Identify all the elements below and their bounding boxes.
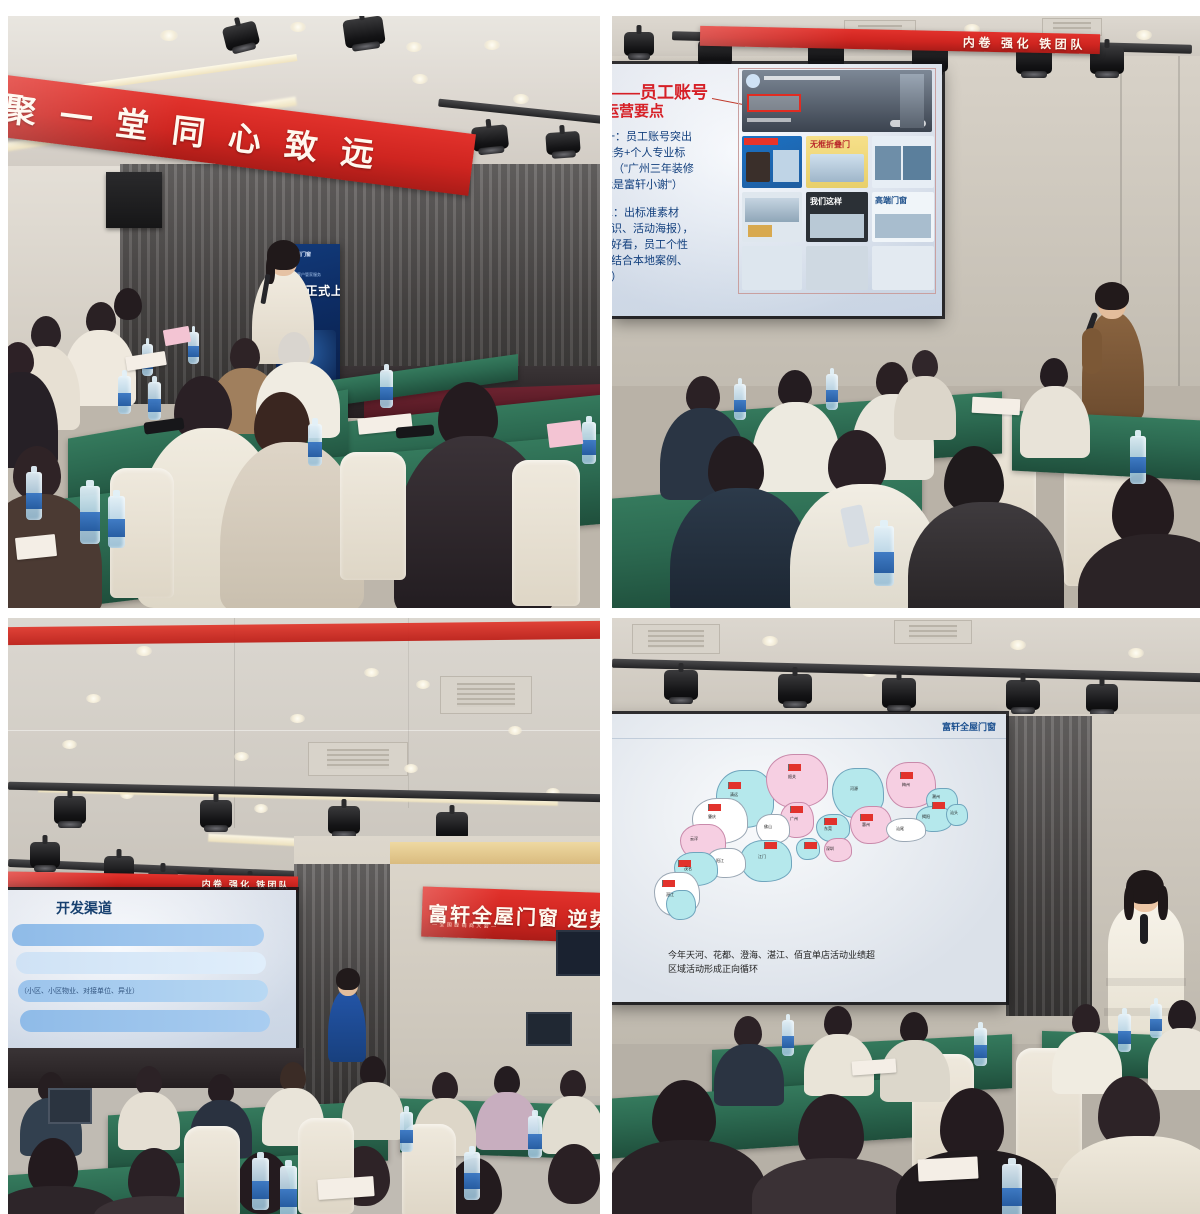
- bottle-label: [26, 493, 42, 509]
- bottle-label: [400, 1130, 413, 1144]
- water-bottle: [1150, 1004, 1162, 1038]
- water-bottle: [26, 472, 42, 520]
- region-label: 梅州: [902, 782, 910, 788]
- chair: [184, 1126, 240, 1214]
- water-bottle: [80, 486, 100, 544]
- projection-screen[interactable]: 富轩全屋门窗: [612, 714, 1006, 1002]
- ceiling-downlight: [234, 752, 249, 761]
- bottle-label: [464, 1173, 480, 1189]
- water-bottle: [1118, 1014, 1131, 1052]
- store-flag-marker: [860, 814, 873, 821]
- ceiling-downlight: [290, 22, 306, 32]
- region-label: 深圳: [826, 846, 834, 852]
- ac-vent: [308, 742, 408, 776]
- panel-top-right[interactable]: 内卷 强化 铁团队 ——员工账号 运营要点 一：员工账号突出 服务+个人专业标 …: [612, 16, 1200, 608]
- attendee-body: [1020, 386, 1090, 458]
- ceiling-downlight: [160, 30, 178, 41]
- region-label: 清远: [730, 792, 738, 798]
- slide-title: 开发渠道: [56, 898, 112, 918]
- store-flag-marker: [708, 804, 721, 811]
- presenter-hair-side: [1124, 886, 1134, 920]
- water-bottle: [118, 376, 131, 414]
- stage-spotlight: [882, 678, 916, 708]
- water-bottle: [108, 496, 125, 548]
- slide-header-rule: [612, 738, 1006, 739]
- store-flag-marker: [728, 782, 741, 789]
- slide-caption-line1: 今年天河、花都、澄海、湛江、佰宜单店活动业绩超: [668, 948, 875, 961]
- stage-spotlight: [328, 806, 360, 834]
- region-label: 汕尾: [896, 826, 904, 832]
- water-bottle: [874, 526, 894, 586]
- stage-spotlight: [664, 670, 698, 700]
- stage-spotlight: [54, 796, 86, 824]
- slide-screenshot-frame: [738, 68, 936, 294]
- chair: [512, 460, 580, 606]
- slide-header-logo: 富轩全屋门窗: [942, 720, 996, 733]
- water-bottle: [1130, 436, 1146, 484]
- bottle-label: [826, 390, 838, 402]
- document-sheet: [15, 534, 57, 560]
- av-monitor: [556, 930, 600, 976]
- slide-bar: [16, 952, 266, 974]
- bottle-label: [252, 1181, 269, 1199]
- store-flag-marker: [790, 806, 803, 813]
- pa-speaker-box: [106, 172, 162, 228]
- stage-spotlight: [624, 32, 654, 56]
- slide-body-line: 知识、活动海报），: [612, 220, 694, 236]
- region-label: 揭阳: [922, 814, 930, 820]
- region-label: 东莞: [824, 826, 832, 832]
- attendee-head: [548, 1144, 600, 1204]
- region-label: 茂名: [684, 866, 692, 872]
- ceiling-downlight: [762, 636, 778, 646]
- ceiling-downlight: [62, 740, 77, 749]
- document-sheet: [972, 397, 1021, 415]
- water-bottle: [974, 1028, 987, 1066]
- ceiling-downlight: [484, 40, 500, 50]
- region-label: 广州: [790, 816, 798, 822]
- ceiling-grid-line: [408, 618, 409, 808]
- stage-spotlight: [30, 842, 60, 868]
- attendee-body: [714, 1044, 784, 1106]
- store-flag-marker: [662, 880, 675, 887]
- store-flag-marker: [788, 764, 801, 771]
- water-bottle: [734, 384, 746, 420]
- bottle-label: [874, 552, 894, 572]
- region-shaoguan: [766, 754, 828, 808]
- water-bottle: [464, 1152, 480, 1200]
- attendee-head: [230, 338, 260, 372]
- overhead-banner-text: 内卷 强化 铁团队: [202, 876, 290, 891]
- stage-spotlight: [545, 131, 580, 155]
- water-bottle: [148, 382, 161, 420]
- stage-spotlight: [342, 16, 386, 49]
- region-label: 汕头: [950, 810, 958, 816]
- stage-spotlight: [1006, 680, 1040, 710]
- region-label: 惠州: [862, 822, 870, 828]
- document-sheet: [917, 1156, 978, 1181]
- bottle-label: [1150, 1019, 1162, 1031]
- ceiling-downlight: [404, 764, 418, 773]
- water-bottle: [280, 1166, 297, 1214]
- ceiling-downlight: [86, 694, 101, 703]
- slide-body-line: （结合本地案例、: [612, 252, 688, 268]
- slide-body-line: 口（"广州三年装修: [612, 160, 694, 176]
- water-bottle: [582, 422, 596, 464]
- bottle-label: [148, 399, 161, 412]
- presenter-dress-tier: [1106, 978, 1186, 986]
- bottle-label: [118, 393, 131, 406]
- attendee-body: [752, 1158, 914, 1214]
- region-label: 阳江: [716, 858, 724, 864]
- bottle-label: [80, 512, 100, 532]
- guangdong-map: 韶关 清远 河源 梅州 肇庆 广州 惠州 潮州 揭阳 云浮 佛山 东莞 汕尾 江…: [664, 752, 964, 932]
- water-bottle: [1002, 1164, 1022, 1214]
- stage-spotlight: [471, 124, 509, 152]
- water-bottle: [782, 1020, 794, 1056]
- presenter-hair: [336, 968, 360, 990]
- panel-top-left[interactable]: 聚 一 堂 同 心 致 远 富轩全屋门窗 富轩门窗客户管家服务 管家正式上线: [8, 16, 600, 608]
- region-huizhou: [850, 806, 892, 844]
- region-label: 潮州: [932, 794, 940, 800]
- bottle-label: [734, 400, 746, 412]
- ceiling-downlight: [416, 680, 430, 689]
- store-flag-marker: [932, 802, 945, 809]
- panel-bottom-right[interactable]: 富轩全屋门窗: [612, 618, 1200, 1214]
- store-flag-marker: [764, 842, 777, 849]
- ac-vent: [440, 676, 532, 714]
- bottle-label: [528, 1134, 542, 1148]
- attendee-body: [118, 1092, 180, 1150]
- presenter-hair-side: [1158, 886, 1168, 920]
- store-flag-marker: [804, 842, 817, 849]
- attendee-body: [612, 1140, 766, 1214]
- stage-curtain: [1006, 716, 1092, 1016]
- bottle-label: [582, 440, 596, 454]
- photo-collage: 聚 一 堂 同 心 致 远 富轩全屋门窗 富轩门窗客户管家服务 管家正式上线: [0, 0, 1200, 1200]
- presenter-body: [328, 990, 366, 1062]
- slide-title-line2: 运营要点: [612, 100, 664, 121]
- ceiling-downlight: [513, 94, 529, 104]
- slide-body-line: 二：出标准素材: [612, 204, 679, 220]
- presenter-arm: [1082, 328, 1102, 374]
- overhead-banner-text: 内卷 强化 铁团队: [963, 33, 1086, 53]
- attendee-head: [31, 316, 61, 350]
- region-label: 肇庆: [708, 814, 716, 820]
- chair: [340, 452, 406, 580]
- region-shanwei: [886, 818, 926, 842]
- water-bottle: [400, 1112, 413, 1152]
- microphone: [1140, 914, 1148, 944]
- panel-bottom-left[interactable]: 富轩全屋门窗 逆势增 — 全 国 经 销 商 大 会 — 内卷 强化 铁团队 开…: [8, 618, 600, 1214]
- ceiling-downlight: [1128, 648, 1144, 658]
- ceiling-downlight: [1136, 30, 1152, 40]
- slide-bar: [12, 924, 264, 946]
- region-label: 佛山: [764, 824, 772, 830]
- slide-body-line: 服务+个人专业标: [612, 144, 685, 160]
- av-monitor: [526, 1012, 572, 1046]
- region-label: 江门: [758, 854, 766, 860]
- slide-body-line: 我是富轩小谢"）: [612, 176, 683, 192]
- ceiling-downlight: [508, 726, 522, 735]
- stage-spotlight: [1086, 684, 1118, 712]
- slide-body-line: 些好看，员工个性: [612, 236, 688, 252]
- ac-vent: [894, 620, 972, 644]
- bottle-label: [380, 387, 393, 400]
- bottle-label: [108, 519, 125, 537]
- region-label: 韶关: [788, 774, 796, 780]
- bottle-label: [782, 1036, 794, 1048]
- region-label: 河源: [850, 786, 858, 792]
- bottle-label: [280, 1189, 297, 1207]
- bottle-label: [188, 346, 199, 357]
- bottle-label: [308, 442, 322, 456]
- stage-spotlight: [778, 674, 812, 704]
- attendee-head: [114, 288, 142, 320]
- slide-body-line: 一：员工账号突出: [612, 128, 692, 144]
- document-sheet: [317, 1176, 374, 1200]
- slide-bar: [20, 1010, 270, 1032]
- water-bottle: [380, 370, 393, 408]
- water-bottle: [826, 374, 838, 410]
- water-bottle: [252, 1158, 269, 1210]
- attendee-body: [894, 376, 956, 440]
- ceiling-downlight: [412, 74, 428, 84]
- ac-vent: [632, 624, 720, 654]
- projection-screen[interactable]: ——员工账号 运营要点 一：员工账号突出 服务+个人专业标 口（"广州三年装修 …: [612, 64, 942, 316]
- slide-note-text: （小区、小区物业、对接单位、异业）: [20, 986, 139, 996]
- ceiling-downlight: [406, 42, 422, 52]
- tablet: [48, 1088, 92, 1124]
- pink-note-card: [547, 420, 584, 448]
- presenter-hair: [1095, 282, 1129, 310]
- wall-warm-glow: [390, 842, 600, 864]
- stage-spotlight: [200, 800, 232, 828]
- ceiling-downlight: [136, 646, 152, 656]
- water-bottle: [308, 424, 322, 466]
- projection-screen[interactable]: 开发渠道 （小区、小区物业、对接单位、异业）: [8, 890, 296, 1056]
- slide-body-line: 事）: [612, 268, 622, 284]
- region-label: 湛江: [666, 892, 674, 898]
- ceiling-downlight: [254, 804, 268, 813]
- ceiling-downlight: [364, 668, 379, 677]
- wall-panel-seam: [1178, 56, 1180, 386]
- store-flag-marker: [824, 818, 837, 825]
- region-label: 云浮: [690, 836, 698, 842]
- ceiling-downlight: [1010, 640, 1026, 650]
- ceiling-downlight: [290, 714, 305, 723]
- bottle-label: [1118, 1031, 1131, 1044]
- water-bottle: [528, 1116, 542, 1158]
- bottle-label: [974, 1045, 987, 1058]
- attendee-body: [908, 502, 1064, 608]
- slide-caption-line2: 区域活动形成正向循环: [668, 962, 758, 975]
- bottle-label: [1002, 1188, 1022, 1206]
- bottle-label: [1130, 457, 1146, 473]
- store-flag-marker: [900, 772, 913, 779]
